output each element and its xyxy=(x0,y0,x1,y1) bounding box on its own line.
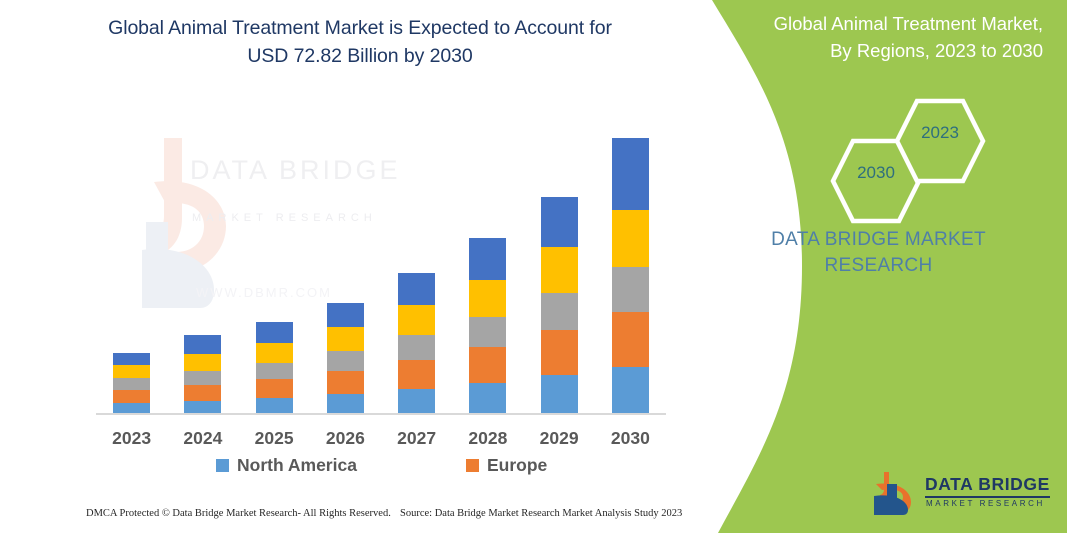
page-title: Global Animal Treatment Market is Expect… xyxy=(40,14,680,70)
bar-group xyxy=(541,197,578,415)
x-axis-label: 2025 xyxy=(238,428,310,449)
bar-segment xyxy=(113,353,150,365)
bar-segment xyxy=(256,322,293,343)
bar-segment xyxy=(256,379,293,398)
x-axis-label: 2028 xyxy=(452,428,524,449)
bar-segment xyxy=(469,238,506,280)
summary-title-line2: By Regions, 2023 to 2030 xyxy=(830,40,1043,61)
bar-segment xyxy=(469,280,506,317)
bar-segment xyxy=(113,378,150,390)
chart-panel: Global Animal Treatment Market is Expect… xyxy=(0,0,712,533)
bar-segment xyxy=(184,371,221,385)
bar-segment xyxy=(469,347,506,383)
x-axis-label: 2027 xyxy=(381,428,453,449)
legend-swatch-icon xyxy=(216,459,229,472)
summary-brand-line1: DATA BRIDGE MARKET xyxy=(690,229,1067,251)
bar-group xyxy=(184,335,221,415)
bar-segment xyxy=(327,351,364,371)
legend-label: Europe xyxy=(487,455,547,476)
bar-segment xyxy=(184,354,221,371)
x-axis-label: 2026 xyxy=(309,428,381,449)
bar-segment xyxy=(184,385,221,401)
bar-segment xyxy=(327,371,364,394)
summary-title-line1: Global Animal Treatment Market, xyxy=(774,13,1043,34)
legend-item[interactable]: North America xyxy=(216,455,357,476)
bar-segment xyxy=(398,389,435,415)
bar-segment xyxy=(612,210,649,267)
bar-segment xyxy=(256,363,293,379)
bar-segment xyxy=(398,335,435,360)
infographic-canvas: Global Animal Treatment Market is Expect… xyxy=(0,0,1067,533)
bar-segment xyxy=(541,375,578,415)
bar-segment xyxy=(398,305,435,335)
bar-segment xyxy=(398,360,435,389)
bar-segment xyxy=(612,367,649,415)
summary-title: Global Animal Treatment Market, By Regio… xyxy=(715,10,1055,64)
x-axis-label: 2024 xyxy=(167,428,239,449)
bar-group xyxy=(113,353,150,415)
bar-segment xyxy=(327,327,364,351)
bar-segment xyxy=(541,330,578,375)
x-axis-labels: 20232024202520262027202820292030 xyxy=(96,428,666,452)
footer-source: Source: Data Bridge Market Research Mark… xyxy=(400,508,682,519)
logo-sub-text: MARKET RESEARCH xyxy=(926,499,1045,508)
logo-main-text: DATA BRIDGE xyxy=(925,474,1050,495)
page-title-line1: Global Animal Treatment Market is Expect… xyxy=(108,17,612,39)
chart-legend: North AmericaEurope xyxy=(96,455,666,483)
bar-group xyxy=(612,138,649,415)
bar-group xyxy=(469,238,506,415)
bar-segment xyxy=(327,303,364,327)
legend-item[interactable]: Europe xyxy=(466,455,547,476)
x-axis-line xyxy=(96,413,666,415)
summary-panel: Global Animal Treatment Market, By Regio… xyxy=(690,0,1067,533)
x-axis-label: 2023 xyxy=(96,428,168,449)
data-bridge-logo-mark-icon xyxy=(870,470,920,516)
bar-segment xyxy=(541,293,578,330)
x-axis-label: 2029 xyxy=(523,428,595,449)
data-bridge-logo: DATA BRIDGE MARKET RESEARCH xyxy=(870,470,1060,518)
logo-divider xyxy=(925,496,1050,498)
summary-brand-line2: RESEARCH xyxy=(690,255,1067,277)
page-title-line2: USD 72.82 Billion by 2030 xyxy=(247,45,472,67)
bar-segment xyxy=(612,267,649,312)
stacked-bar-chart xyxy=(96,120,666,415)
bar-segment xyxy=(256,343,293,363)
hexagon-2023-label: 2023 xyxy=(894,123,986,143)
bar-segment xyxy=(541,247,578,293)
footer-copyright: DMCA Protected © Data Bridge Market Rese… xyxy=(86,508,391,519)
x-axis-label: 2030 xyxy=(594,428,666,449)
bar-segment xyxy=(184,335,221,354)
bar-group xyxy=(327,303,364,415)
bar-group xyxy=(256,322,293,415)
bar-segment xyxy=(113,390,150,403)
bar-segment xyxy=(469,383,506,415)
legend-label: North America xyxy=(237,455,357,476)
bar-segment xyxy=(541,197,578,247)
bar-segment xyxy=(612,312,649,367)
bar-segment xyxy=(612,138,649,210)
bar-segment xyxy=(113,365,150,378)
bar-segment xyxy=(327,394,364,415)
bar-segment xyxy=(469,317,506,347)
bar-segment xyxy=(398,273,435,305)
legend-swatch-icon xyxy=(466,459,479,472)
bar-group xyxy=(398,273,435,415)
